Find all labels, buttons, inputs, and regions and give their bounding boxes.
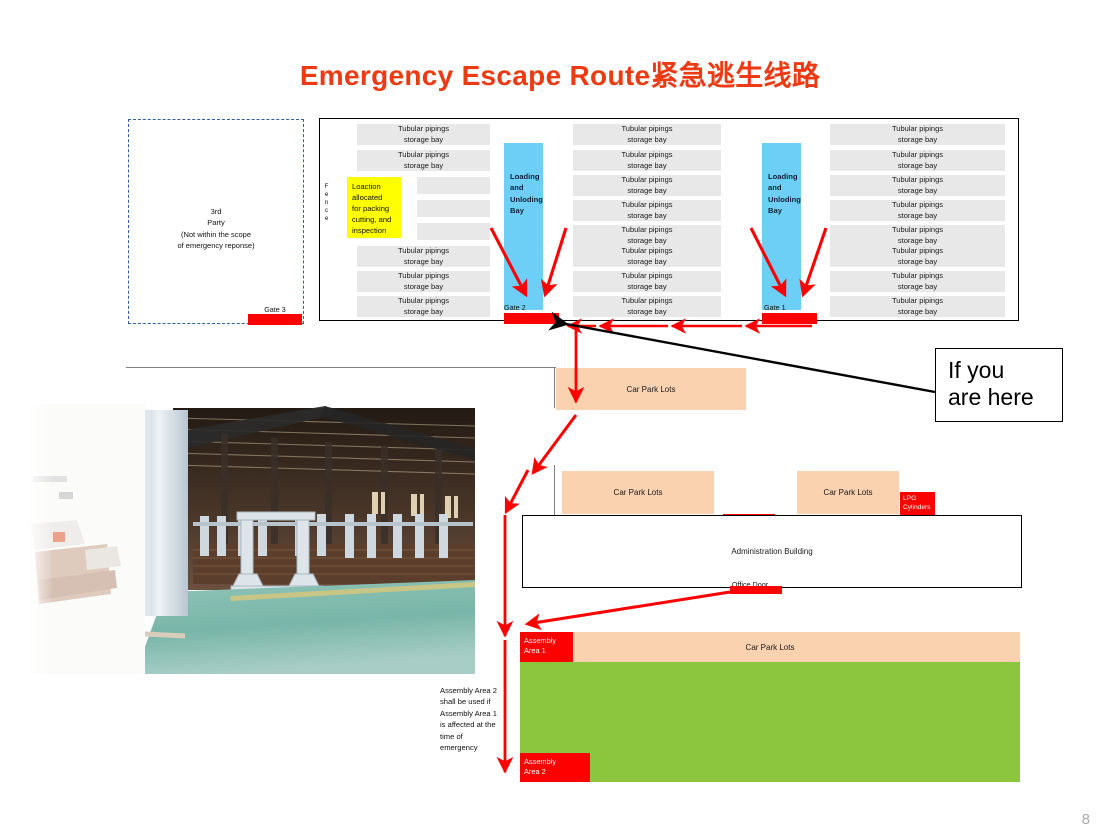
bay-line2: storage bay [627,161,666,171]
gate-3-block [248,314,302,325]
bay-line1: Tubular pipings [892,124,943,134]
bay-line1: Tubular pipings [398,246,449,256]
storage-bay: Tubular pipings storage bay [573,225,721,246]
car-park-lots-top: Car Park Lots [556,368,746,410]
green-open-area [520,662,1020,782]
third-party-label: 3rd Party (Not within the scope of emerg… [129,206,303,251]
note-line5: time of [440,731,520,742]
gate-2-label: Gate 2 [504,303,548,312]
storage-bay: Tubular pipings storage bay [830,150,1005,171]
loading-bay-line2: and [768,182,801,193]
if-you-are-here-callout: If you are here [935,348,1063,422]
administration-building: Administration Building [522,515,1022,588]
third-party-area: 3rd Party (Not within the scope of emerg… [128,119,304,324]
fence-letter-2: e [322,191,331,199]
storage-bay-blank [417,223,490,240]
callout-line2: are here [948,384,1052,411]
car-park-label: Car Park Lots [614,488,663,497]
bay-line2: storage bay [898,161,937,171]
bay-line2: storage bay [898,282,937,292]
bay-line1: Tubular pipings [621,296,672,306]
bay-line2: storage bay [898,236,937,246]
warehouse-interior-photo [25,404,475,674]
fence-letter-4: c [322,207,331,215]
bay-line2: storage bay [404,307,443,317]
site-boundary-line-vertical-2 [554,465,555,517]
yellow-line4: cutting, and [352,214,397,225]
bay-line2: storage bay [898,211,937,221]
bay-line2: storage bay [627,211,666,221]
lpg-cylinders-area: LPG Cylinders [900,492,935,517]
note-line6: emergency [440,742,520,753]
lpg-line1: LPG [903,495,935,504]
storage-bay: Tubular pipings storage bay [573,271,721,292]
gate-2-block [504,313,559,324]
fence-label: F e n c e [322,183,331,223]
assembly-2-line1: Assembly [524,757,590,767]
bay-line1: Tubular pipings [398,296,449,306]
bay-line1: Tubular pipings [892,175,943,185]
storage-bay: Tubular pipings storage bay [830,124,1005,145]
bay-line1: Tubular pipings [621,271,672,281]
note-line3: Assembly Area 1 [440,708,520,719]
gate-3-label: Gate 3 [248,305,302,314]
storage-bay: Tubular pipings storage bay [573,175,721,196]
site-boundary-line [126,367,556,368]
car-park-lots-bottom: Car Park Lots [520,632,1020,662]
loading-bay-line3: Unloding [768,194,801,205]
storage-bay: Tubular pipings storage bay [830,175,1005,196]
storage-bay: Tubular pipings storage bay [830,225,1005,246]
bay-line1: Tubular pipings [398,124,449,134]
bay-line1: Tubular pipings [621,225,672,235]
bay-line2: storage bay [627,236,666,246]
fence-letter-3: n [322,199,331,207]
loading-bay-line1: Loading [510,171,543,182]
photo-svg [25,404,475,674]
loading-bay-line1: Loading [768,171,801,182]
lpg-line2: Cylinders [903,504,935,513]
loading-bay-line4: Bay [768,205,801,216]
car-park-label: Car Park Lots [746,643,795,652]
bay-line2: storage bay [898,186,937,196]
car-park-lots-right: Car Park Lots [797,471,899,514]
bay-line2: storage bay [627,257,666,267]
storage-bay: Tubular pipings storage bay [357,246,490,267]
bay-line1: Tubular pipings [621,246,672,256]
bay-line1: Tubular pipings [621,200,672,210]
bay-line1: Tubular pipings [892,225,943,235]
callout-line1: If you [948,357,1052,384]
assembly-area-1: Assembly Area 1 [520,632,573,662]
assembly-1-line2: Area 1 [524,646,573,656]
bay-line2: storage bay [627,186,666,196]
storage-bay: Tubular pipings storage bay [357,296,490,317]
storage-bay: Tubular pipings storage bay [830,200,1005,221]
storage-bay: Tubular pipings storage bay [573,200,721,221]
bay-line2: storage bay [627,282,666,292]
loading-bay-line3: Unloding [510,194,543,205]
storage-bay-blank [417,177,490,194]
bay-line1: Tubular pipings [621,124,672,134]
office-door-bottom-block [730,586,782,594]
storage-bay: Tubular pipings storage bay [573,246,721,267]
bay-line2: storage bay [404,135,443,145]
bay-line2: storage bay [627,135,666,145]
loading-bay-line4: Bay [510,205,543,216]
note-line2: shall be used if [440,696,520,707]
storage-bay: Tubular pipings storage bay [357,124,490,145]
page-number: 8 [1082,811,1090,828]
bay-line1: Tubular pipings [892,200,943,210]
bay-line2: storage bay [627,307,666,317]
yellow-line5: inspection [352,225,397,236]
gate-1-label: Gate 1 [764,303,808,312]
note-line1: Assembly Area 2 [440,685,520,696]
bay-line1: Tubular pipings [892,246,943,256]
car-park-lots-left: Car Park Lots [562,471,714,514]
slide-canvas: Emergency Escape Route紧急逃生线路 3rd Party (… [0,0,1120,840]
storage-bay: Tubular pipings storage bay [830,296,1005,317]
bay-line1: Tubular pipings [398,271,449,281]
arrow-route-to-assembly-1 [527,592,730,624]
bay-line2: storage bay [898,135,937,145]
third-party-line2: Party [129,217,303,228]
note-line4: is affected at the [440,719,520,730]
yellow-line3: for packing [352,203,397,214]
arrow-route-diag-2 [506,470,528,512]
loading-unloading-bay-2: Loading and Unloding Bay [504,143,543,310]
storage-bay: Tubular pipings storage bay [573,124,721,145]
storage-bay: Tubular pipings storage bay [357,150,490,171]
bay-line1: Tubular pipings [398,150,449,160]
assembly-1-line1: Assembly [524,636,573,646]
storage-bay-blank [417,200,490,217]
car-park-label: Car Park Lots [627,385,676,394]
packing-cutting-inspection-area: Loaction allocated for packing cutting, … [347,177,401,238]
bay-line1: Tubular pipings [892,150,943,160]
loading-bay-line2: and [510,182,543,193]
bay-line1: Tubular pipings [892,271,943,281]
assembly-area-2: Assembly Area 2 [520,753,590,782]
bay-line1: Tubular pipings [621,150,672,160]
bay-line2: storage bay [898,307,937,317]
assembly-area-note: Assembly Area 2 shall be used if Assembl… [440,685,520,753]
bay-line2: storage bay [404,161,443,171]
gate-1-block [762,313,817,324]
car-park-label: Car Park Lots [824,488,873,497]
fence-letter-1: F [322,183,331,191]
bay-line2: storage bay [898,257,937,267]
loading-unloading-bay-1: Loading and Unloding Bay [762,143,801,310]
third-party-line3: (Not within the scope [129,229,303,240]
page-title: Emergency Escape Route紧急逃生线路 [0,54,1120,94]
admin-building-label: Administration Building [731,547,812,556]
bay-line1: Tubular pipings [621,175,672,185]
storage-bay: Tubular pipings storage bay [830,271,1005,292]
storage-bay: Tubular pipings storage bay [573,296,721,317]
storage-bay: Tubular pipings storage bay [573,150,721,171]
bay-line2: storage bay [404,257,443,267]
yellow-line2: allocated [352,192,397,203]
third-party-line1: 3rd [129,206,303,217]
storage-bay: Tubular pipings storage bay [830,246,1005,267]
assembly-2-line2: Area 2 [524,767,590,777]
bay-line1: Tubular pipings [892,296,943,306]
bay-line2: storage bay [404,282,443,292]
storage-bay: Tubular pipings storage bay [357,271,490,292]
yellow-line1: Loaction [352,181,397,192]
third-party-line4: of emergency reponse) [129,240,303,251]
fence-letter-5: e [322,215,331,223]
